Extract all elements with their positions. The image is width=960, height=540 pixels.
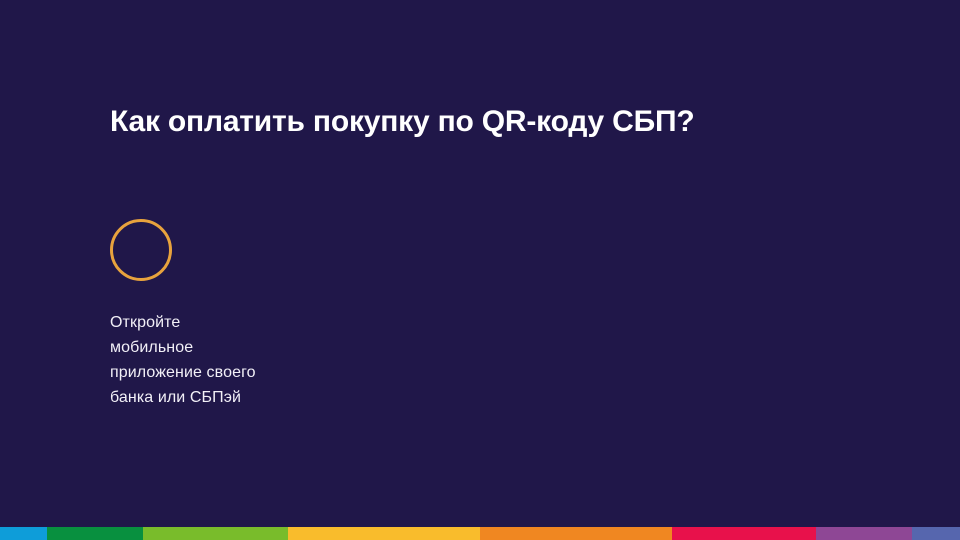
color-bar-segment-light-green [143, 527, 288, 540]
step-block: Откройте мобильное приложение своего бан… [110, 219, 410, 410]
bottom-color-bar [0, 527, 960, 540]
slide-canvas: Как оплатить покупку по QR-коду СБП? Отк… [0, 0, 960, 540]
step-description: Откройте мобильное приложение своего бан… [110, 310, 410, 410]
color-bar-segment-crimson [672, 527, 816, 540]
color-bar-segment-cyan-blue [0, 527, 47, 540]
circle-outline-icon [110, 219, 172, 281]
color-bar-segment-blue-violet [912, 527, 960, 540]
color-bar-segment-purple [816, 527, 912, 540]
color-bar-segment-amber [288, 527, 480, 540]
page-title: Как оплатить покупку по QR-коду СБП? [110, 103, 694, 141]
color-bar-segment-dark-green [47, 527, 143, 540]
color-bar-segment-orange [480, 527, 672, 540]
